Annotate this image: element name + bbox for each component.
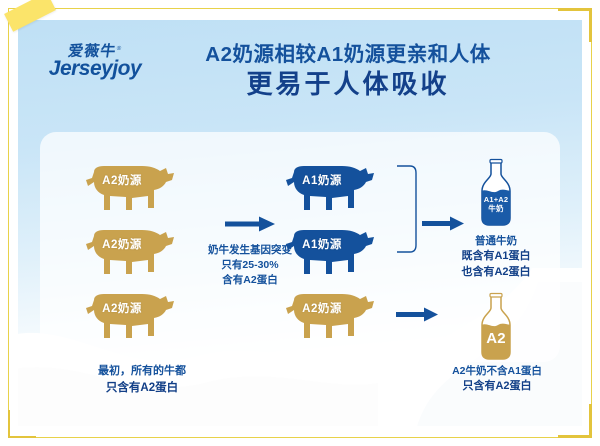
brand-logo: 爱薇牛® Jerseyjoy: [44, 44, 146, 80]
cow-label: A2奶源: [280, 300, 364, 316]
milk-bottle-icon: [474, 158, 518, 228]
cow-label: A1奶源: [280, 236, 364, 252]
title-line-2: 更易于人体吸收: [148, 69, 548, 101]
poster-panel: 爱薇牛® Jerseyjoy A2奶源相较A1奶源更亲和人体 更易于人体吸收 A…: [18, 20, 582, 426]
bottle-label-line-2: 牛奶: [474, 205, 518, 214]
trademark-symbol: ®: [116, 46, 122, 52]
title-line-1: A2奶源相较A1奶源更亲和人体: [148, 42, 548, 68]
bottle-label-group: A1+A2 牛奶: [474, 196, 518, 213]
caption-line-2: 既含有A1蛋白: [426, 249, 566, 265]
caption-line-1: A2牛奶不含A1蛋白: [422, 364, 572, 379]
milk-bottle-icon: [474, 292, 518, 362]
poster-root: 爱薇牛® Jerseyjoy A2奶源相较A1奶源更亲和人体 更易于人体吸收 A…: [0, 0, 600, 446]
caption-line-3: 也含有A2蛋白: [426, 265, 566, 281]
arrow-right-icon: [225, 216, 275, 232]
grouping-bracket: [396, 165, 418, 253]
cow-label: A2奶源: [80, 300, 164, 316]
caption-line-2: 只含有A2蛋白: [72, 380, 212, 397]
cow-label: A2奶源: [80, 172, 164, 188]
arrow-right-icon-bottom: [396, 307, 438, 322]
cow-label: A1奶源: [280, 172, 364, 188]
outcome-top-caption: 普通牛奶 既含有A1蛋白 也含有A2蛋白: [426, 234, 566, 281]
outcome-bottom-caption: A2牛奶不含A1蛋白 只含有A2蛋白: [422, 364, 572, 395]
cow-right-3: A2奶源: [280, 284, 382, 346]
page-title: A2奶源相较A1奶源更亲和人体 更易于人体吸收: [148, 42, 548, 100]
cow-right-2: A1奶源: [280, 220, 382, 282]
bottle-a1-a2: A1+A2 牛奶: [474, 158, 518, 228]
arrow-right-icon-top: [422, 216, 464, 231]
cow-left-1: A2奶源: [80, 156, 182, 218]
bottle-label: A2: [474, 330, 518, 347]
cow-left-2: A2奶源: [80, 220, 182, 282]
brand-name-en: Jerseyjoy: [44, 58, 146, 80]
cow-label: A2奶源: [80, 236, 164, 252]
brand-name-cn: 爱薇牛®: [43, 44, 147, 59]
caption-line-2: 只含有A2蛋白: [422, 379, 572, 395]
cow-left-3: A2奶源: [80, 284, 182, 346]
bottle-a2: A2: [474, 292, 518, 362]
caption-line-1: 最初，所有的牛都: [72, 364, 212, 380]
cow-right-1: A1奶源: [280, 156, 382, 218]
left-column-caption: 最初，所有的牛都 只含有A2蛋白: [72, 364, 212, 397]
caption-line-1: 普通牛奶: [426, 234, 566, 249]
